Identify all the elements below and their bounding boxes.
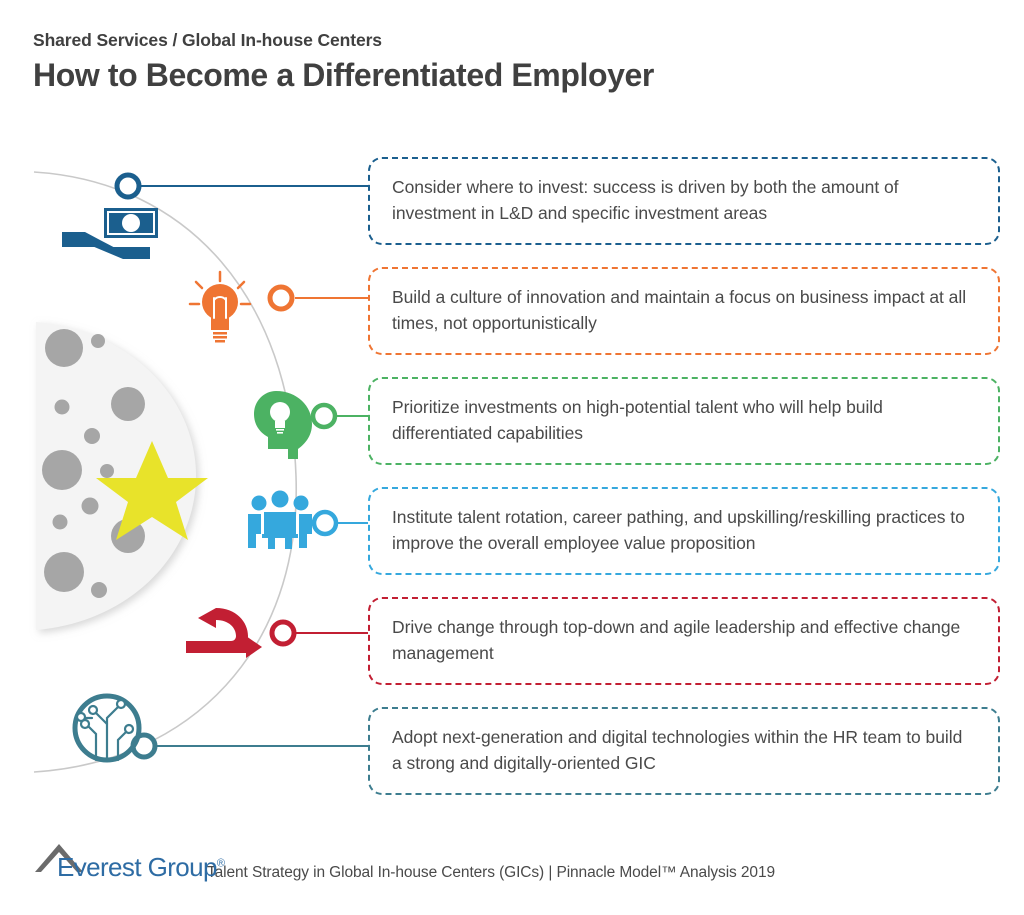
footer-caption: Talent Strategy in Global In-house Cente…	[207, 864, 775, 886]
outer-arc	[34, 172, 296, 772]
callout-text-talent: Prioritize investments on high-potential…	[392, 395, 976, 447]
header: Shared Services / Global In-house Center…	[33, 30, 993, 95]
eyebrow-label: Shared Services / Global In-house Center…	[33, 30, 993, 51]
connector-node-rotation	[314, 512, 336, 534]
connector-node-change	[272, 622, 294, 644]
moon-craters	[42, 329, 145, 598]
callout-text-innovation: Build a culture of innovation and mainta…	[392, 285, 976, 337]
everest-group-logo: Everest Group®	[33, 840, 201, 886]
hand-holding-money-icon	[62, 208, 158, 259]
callout-text-digital: Adopt next-generation and digital techno…	[392, 725, 976, 777]
callout-box-rotation[interactable]: Institute talent rotation, career pathin…	[368, 487, 1000, 575]
callout-box-invest[interactable]: Consider where to invest: success is dri…	[368, 157, 1000, 245]
logo-registered-mark: ®	[217, 857, 225, 869]
page-title: How to Become a Differentiated Employer	[33, 55, 993, 95]
callout-text-invest: Consider where to invest: success is dri…	[392, 175, 976, 227]
connector-node-digital	[133, 735, 155, 757]
callout-text-change: Drive change through top-down and agile …	[392, 615, 976, 667]
connector-node-innovation	[270, 287, 292, 309]
moon-shape	[36, 322, 196, 630]
group-of-people-icon	[248, 491, 312, 550]
circuit-board-icon	[75, 696, 139, 760]
head-with-lightbulb-icon	[254, 391, 312, 459]
lightbulb-icon	[190, 272, 250, 343]
logo-wordmark: Everest Group®	[57, 852, 224, 883]
star-icon	[96, 441, 208, 540]
footer: Everest Group® Talent Strategy in Global…	[33, 840, 775, 886]
callout-box-change[interactable]: Drive change through top-down and agile …	[368, 597, 1000, 685]
callout-text-rotation: Institute talent rotation, career pathin…	[392, 505, 976, 557]
callout-box-talent[interactable]: Prioritize investments on high-potential…	[368, 377, 1000, 465]
callout-box-innovation[interactable]: Build a culture of innovation and mainta…	[368, 267, 1000, 355]
connector-node-talent	[313, 405, 335, 427]
logo-wordmark-text: Everest Group	[57, 852, 217, 882]
callout-box-digital[interactable]: Adopt next-generation and digital techno…	[368, 707, 1000, 795]
agile-loop-arrow-icon	[186, 608, 262, 658]
connector-node-invest	[117, 175, 139, 197]
